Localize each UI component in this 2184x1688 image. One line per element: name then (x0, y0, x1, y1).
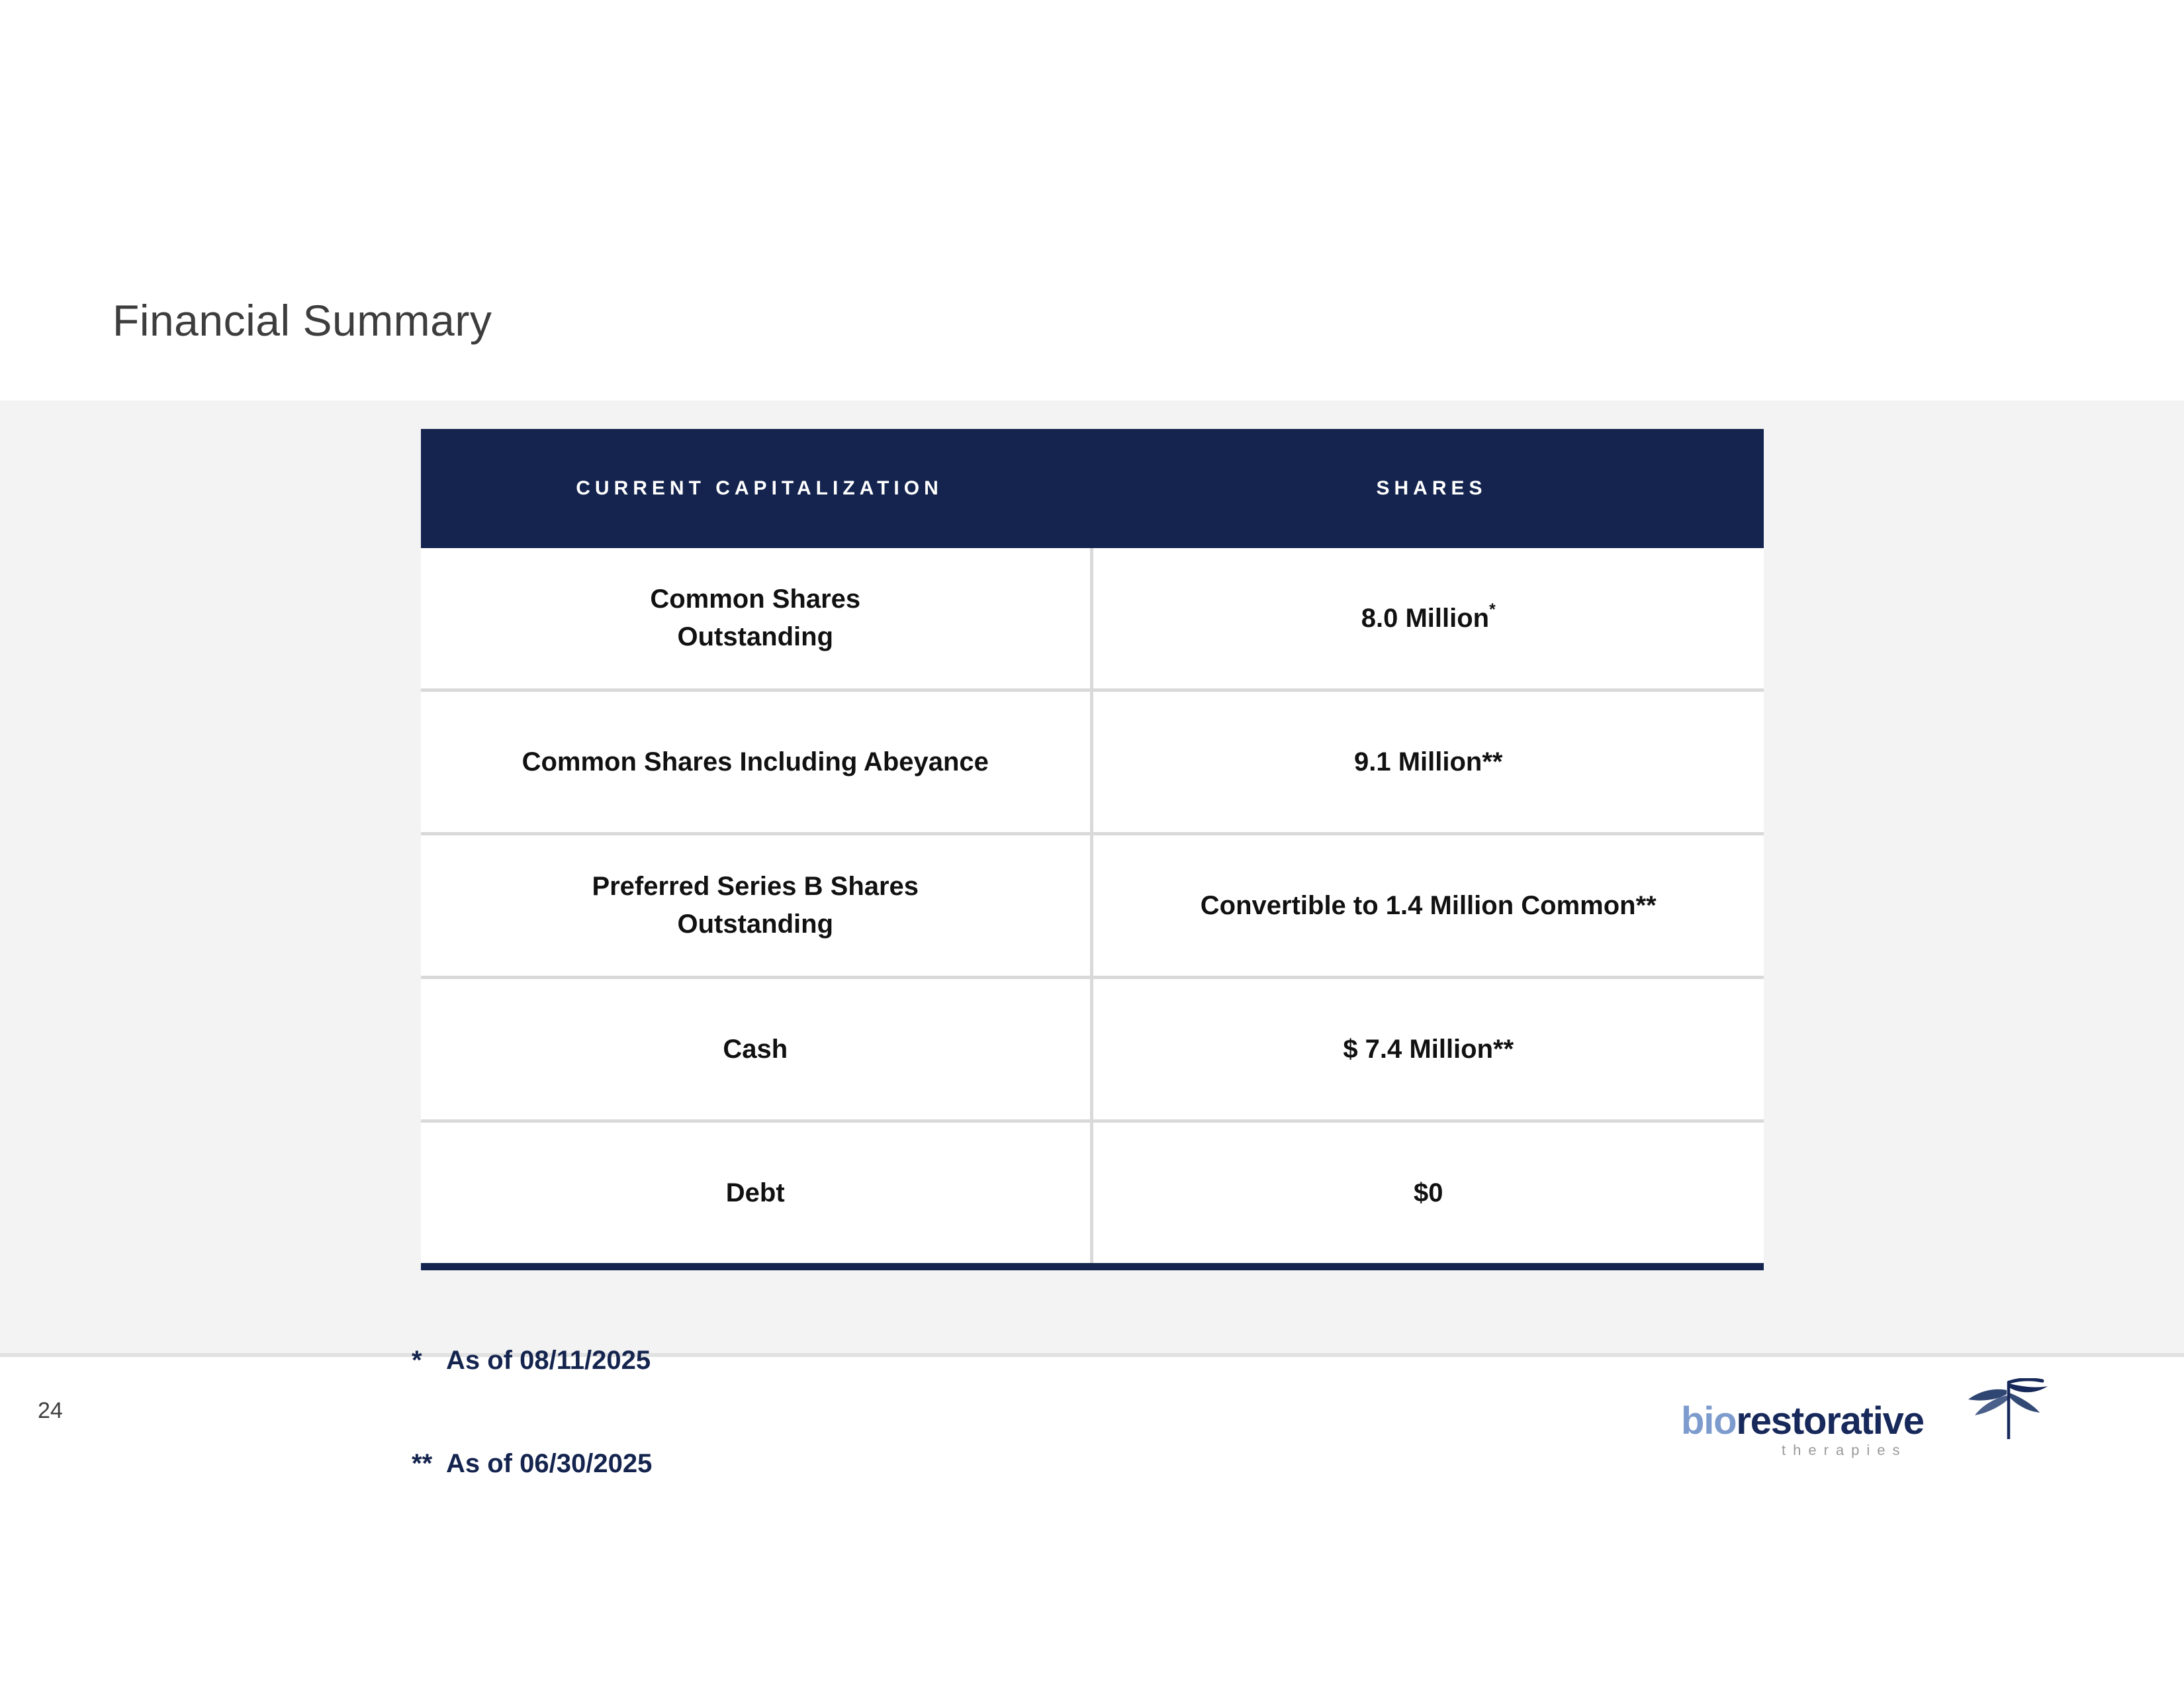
table-body: Common SharesOutstanding 8.0 Million* Co… (421, 548, 1764, 1267)
table-row: Cash $ 7.4 Million** (421, 978, 1764, 1121)
logo-tagline: therapies (1782, 1442, 1907, 1459)
row-value-text: Convertible to 1.4 Million Common** (1201, 891, 1657, 920)
footnote-text: As of 08/11/2025 (446, 1346, 651, 1375)
table-row: Debt $0 (421, 1121, 1764, 1267)
row-value: 8.0 Million* (1091, 548, 1764, 690)
row-label: Common Shares Including Abeyance (421, 690, 1091, 834)
logo-restorative-text: restorative (1736, 1399, 1923, 1442)
row-value-text: 8.0 Million (1361, 604, 1489, 633)
brand-logo: biorestorative therapies (1681, 1383, 2091, 1463)
table-header: CURRENT CAPITALIZATION SHARES (421, 429, 1764, 548)
row-label-text: Preferred Series B SharesOutstanding (592, 872, 919, 939)
row-value: $0 (1091, 1121, 1764, 1267)
column-header-shares: SHARES (1091, 429, 1764, 548)
table-row: Common Shares Including Abeyance 9.1 Mil… (421, 690, 1764, 834)
page-title: Financial Summary (113, 297, 492, 345)
row-value-text: $0 (1414, 1178, 1443, 1207)
logo-bio-text: bio (1681, 1399, 1736, 1442)
row-label-text: Common SharesOutstanding (650, 585, 860, 651)
footnote-line: *As of 08/11/2025 (412, 1343, 652, 1378)
row-label-text: Debt (726, 1178, 785, 1207)
logo-wordmark: biorestorative (1681, 1402, 1924, 1440)
footnote-marker: ** (412, 1446, 446, 1481)
row-value-superscript: * (1489, 601, 1496, 619)
table-row: Preferred Series B SharesOutstanding Con… (421, 834, 1764, 978)
row-value: $ 7.4 Million** (1091, 978, 1764, 1121)
content-band: CURRENT CAPITALIZATION SHARES Common Sha… (0, 400, 2184, 1357)
row-label: Debt (421, 1121, 1091, 1267)
row-label-text: Common Shares Including Abeyance (522, 747, 989, 776)
row-label: Preferred Series B SharesOutstanding (421, 834, 1091, 978)
row-label-text: Cash (723, 1035, 788, 1064)
row-value-text: 9.1 Million** (1354, 747, 1503, 776)
row-label: Cash (421, 978, 1091, 1121)
table-header-row: CURRENT CAPITALIZATION SHARES (421, 429, 1764, 548)
capitalization-table: CURRENT CAPITALIZATION SHARES Common Sha… (421, 429, 1764, 1270)
column-header-current-capitalization: CURRENT CAPITALIZATION (421, 429, 1091, 548)
footnote-marker: * (412, 1343, 446, 1378)
row-label: Common SharesOutstanding (421, 548, 1091, 690)
row-value: Convertible to 1.4 Million Common** (1091, 834, 1764, 978)
table-row: Common SharesOutstanding 8.0 Million* (421, 548, 1764, 690)
footnotes: *As of 08/11/2025 **As of 06/30/2025 (412, 1274, 652, 1550)
row-value: 9.1 Million** (1091, 690, 1764, 834)
page-number: 24 (38, 1398, 63, 1424)
row-value-text: $ 7.4 Million** (1343, 1035, 1514, 1064)
footnote-line: **As of 06/30/2025 (412, 1446, 652, 1481)
dragonfly-icon (1946, 1378, 2058, 1439)
footnote-text: As of 06/30/2025 (446, 1449, 652, 1478)
